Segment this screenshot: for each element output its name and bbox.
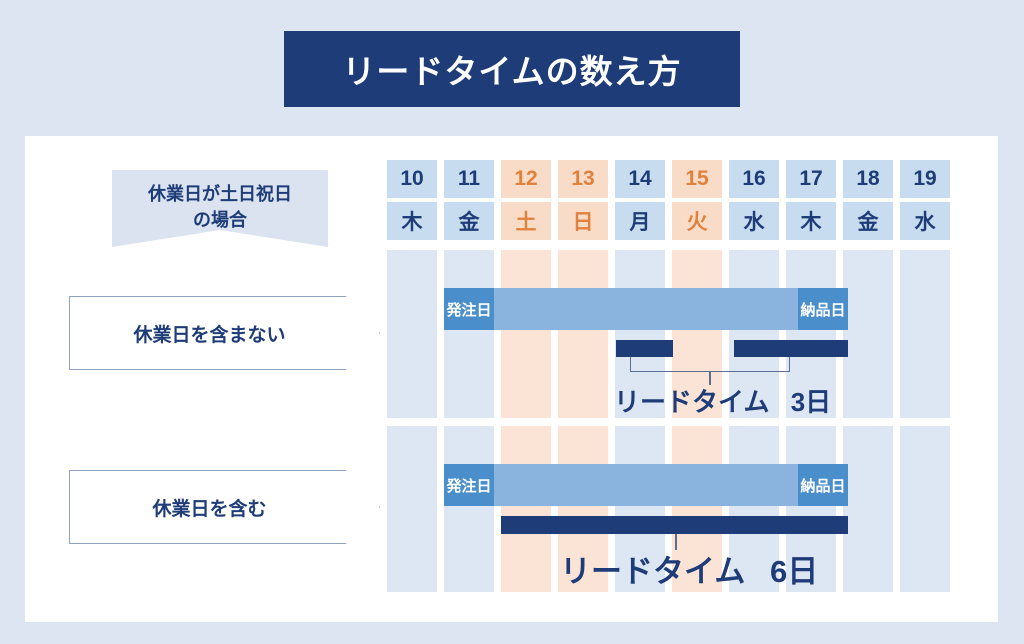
row-2-lead-segment [501, 516, 848, 534]
row-2-lead-caption: リードタイム 6日 [560, 546, 818, 591]
row-2-delivery-date-cap: 納品日 [798, 464, 848, 506]
content-card: 休業日が土日祝日 の場合 休業日を含まない 休業日を含む 10木11金12土13… [25, 136, 998, 622]
arrow-label-include-holidays[interactable] [69, 470, 380, 544]
page-title-banner: リードタイムの数え方 [284, 31, 740, 107]
case-banner-line-1: 休業日が土日祝日 [148, 181, 292, 207]
calendar-grid: 10木11金12土13日14月15火16水17木18金19水 発注日 納品日 リ… [387, 160, 963, 592]
case-banner-line-2: の場合 [193, 207, 247, 233]
page-title: リードタイムの数え方 [342, 45, 681, 93]
row-2-lead-caption-text: リードタイム [560, 554, 745, 589]
arrow-label-exclude-holidays[interactable] [69, 296, 380, 370]
case-banner: 休業日が土日祝日 の場合 [112, 170, 328, 247]
row-2-lead-value: 6日 [770, 554, 818, 589]
row-2-span-bar: 発注日 納品日 [444, 464, 848, 506]
row-2-order-date-cap: 発注日 [444, 464, 494, 506]
row-2-overlay: 発注日 納品日 リードタイム 6日 [387, 160, 963, 592]
